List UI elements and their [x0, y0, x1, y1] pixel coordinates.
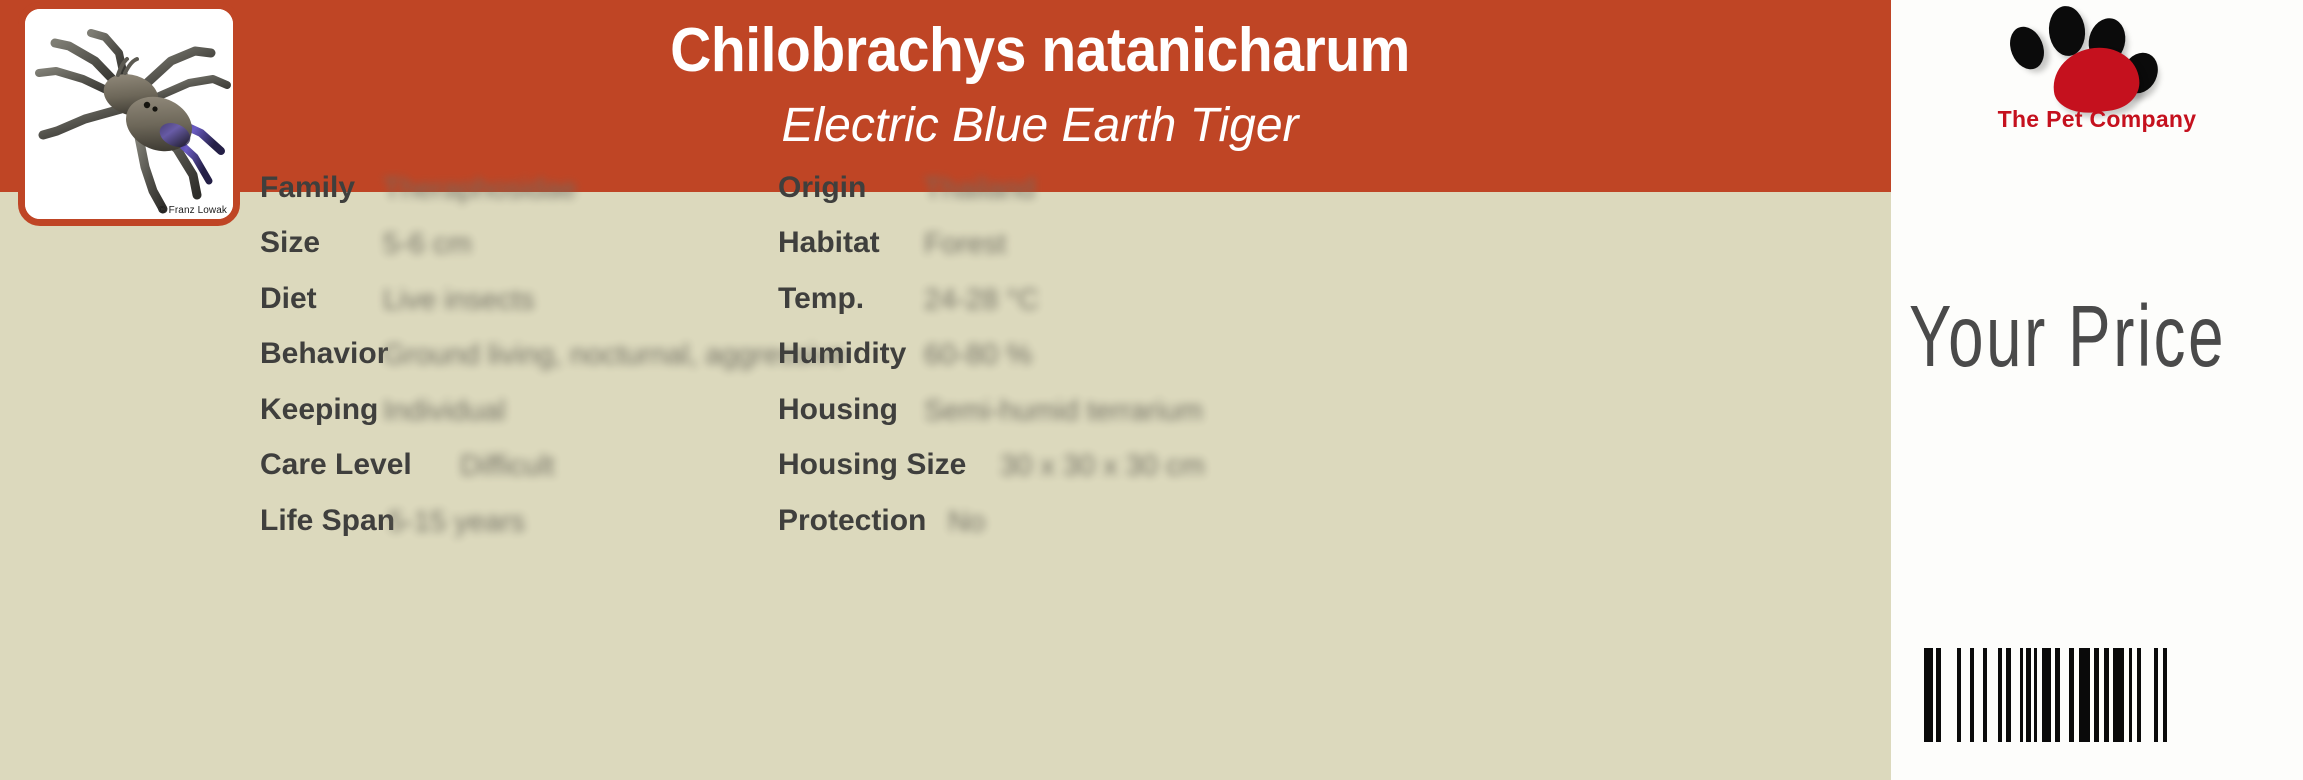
spec-label-temp: Temp.	[778, 281, 864, 317]
paw-print-icon	[2011, 4, 2191, 110]
spec-value-origin: Thailand	[924, 171, 1035, 207]
tarantula-photo	[25, 9, 233, 219]
company-name: The Pet Company	[1891, 106, 2303, 133]
tarantula-illustration	[25, 9, 233, 219]
spec-label-housing: Housing	[778, 392, 898, 428]
spec-label-keeping: Keeping	[260, 392, 378, 428]
spec-label-size: Size	[260, 225, 320, 261]
spec-label-life-span: Life Span	[260, 503, 395, 539]
species-common-name: Electric Blue Earth Tiger	[300, 94, 1780, 158]
spec-value-protection: No	[948, 504, 985, 540]
spec-value-humidity: 60-80 %	[924, 337, 1032, 373]
spec-label-care-level: Care Level	[260, 447, 412, 483]
spec-value-habitat: Forest	[924, 226, 1006, 262]
spec-value-family: Theraphosidae	[383, 171, 576, 207]
spec-grid: Family Theraphosidae Size 5-6 cm Diet Li…	[0, 192, 1891, 780]
spec-label-protection: Protection	[778, 503, 926, 539]
price-panel: The Pet Company Your Price	[1891, 0, 2303, 780]
product-label-sheet: Chilobrachys natanicharum Electric Blue …	[0, 0, 2303, 780]
spec-value-care-level: Difficult	[460, 448, 555, 484]
spec-value-housing: Semi-humid terrarium	[924, 393, 1203, 429]
spec-value-behavior: Ground living, nocturnal, aggressive	[383, 337, 846, 373]
spec-label-housing-size: Housing Size	[778, 447, 966, 483]
spec-value-diet: Live insects	[383, 282, 535, 318]
spec-value-housing-size: 30 x 30 x 30 cm	[1000, 448, 1205, 484]
price-label: Your Price	[1909, 288, 2303, 385]
spec-label-humidity: Humidity	[778, 336, 906, 372]
title-block: Chilobrachys natanicharum Electric Blue …	[300, 8, 1780, 158]
spec-label-habitat: Habitat	[778, 225, 880, 261]
company-logo: The Pet Company	[1891, 0, 2303, 150]
spec-value-size: 5-6 cm	[383, 226, 472, 262]
product-barcode	[1924, 648, 2176, 742]
spec-label-diet: Diet	[260, 281, 317, 317]
spec-label-behavior: Behavior	[260, 336, 388, 372]
spec-label-family: Family	[260, 170, 355, 206]
spec-label-origin: Origin	[778, 170, 866, 206]
species-scientific-name: Chilobrachys natanicharum	[359, 8, 1721, 94]
spec-value-temp: 24-28 °C	[924, 282, 1039, 318]
spec-value-life-span: 5-15 years	[388, 504, 525, 540]
spec-value-keeping: Individual	[383, 393, 506, 429]
species-info-card: Chilobrachys natanicharum Electric Blue …	[0, 0, 1891, 780]
